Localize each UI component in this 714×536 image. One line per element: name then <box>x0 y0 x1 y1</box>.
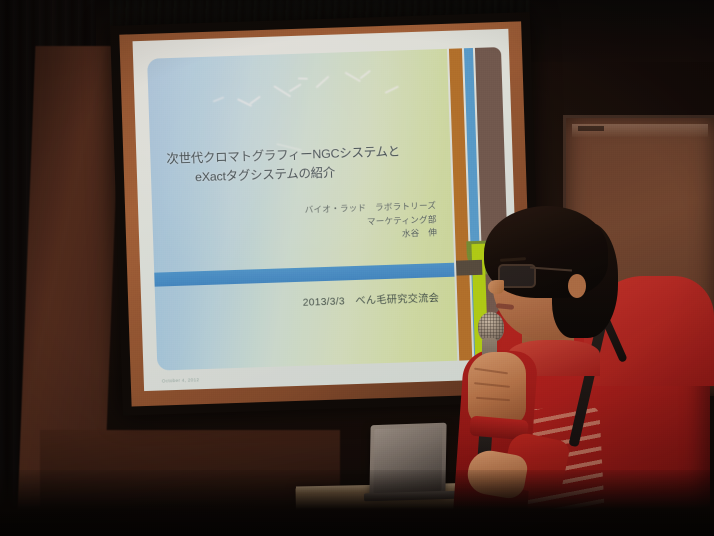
speaker-nose <box>488 280 504 294</box>
bird-mark-icon <box>289 83 302 92</box>
wall-board-label-mark <box>578 126 604 131</box>
slide-blue-divider <box>154 263 454 287</box>
speaker-ear <box>568 274 586 298</box>
slide-footer-date: October 4, 2012 <box>162 377 200 383</box>
bird-mark-icon <box>298 77 308 79</box>
slide-title: 次世代クロマトグラフィーNGCシステムと eXactタグシステムの紹介 <box>166 141 435 188</box>
slide-date-event: 2013/3/3 べん毛研究交流会 <box>155 289 439 313</box>
slide-content-panel: 次世代クロマトグラフィーNGCシステムと eXactタグシステムの紹介 バイオ・… <box>147 49 457 371</box>
bird-mark-icon <box>249 96 261 105</box>
floor <box>0 470 714 536</box>
bird-mark-icon <box>315 76 329 89</box>
speaker-hand <box>468 352 526 426</box>
presentation-photo-scene: 次世代クロマトグラフィーNGCシステムと eXactタグシステムの紹介 バイオ・… <box>0 0 714 536</box>
slide-presenter-block: バイオ・ラッド ラボラトリーズ マーケティング部 水谷 伸 <box>152 199 437 249</box>
bird-mark-icon <box>213 96 225 102</box>
bird-mark-icon <box>360 70 371 80</box>
bird-mark-icon <box>385 86 399 94</box>
